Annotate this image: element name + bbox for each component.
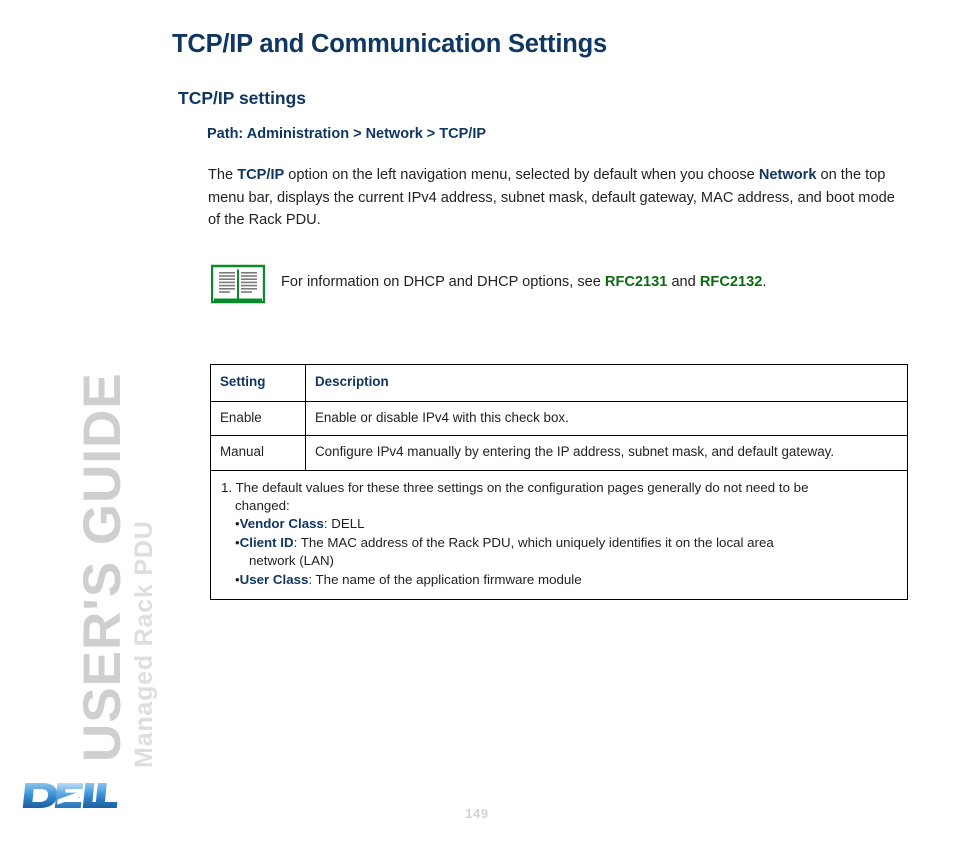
main-content: TCP/IP and Communication Settings TCP/IP… [0,0,954,854]
footnote-intro-cont: changed: [221,497,897,515]
note-part-2: and [667,274,699,290]
footnote-item-text: : DELL [324,516,365,531]
note-block: For information on DHCP and DHCP options… [211,262,911,304]
page-title: TCP/IP and Communication Settings [172,30,607,59]
document-page: USER'S GUIDE Managed Rack PDU [0,0,954,854]
footnote-item: •Client ID: The MAC address of the Rack … [221,534,897,552]
cell-description-manual: Configure IPv4 manually by entering the … [306,436,908,471]
paragraph-bold-tcpip: TCP/IP [237,167,284,183]
paragraph-bold-network: Network [759,167,817,183]
cell-setting-enable: Enable [211,401,306,436]
table-row: Enable Enable or disable IPv4 with this … [211,401,908,436]
table-footnote: 1. The default values for these three se… [211,470,908,599]
footnote-item-text: : The MAC address of the Rack PDU, which… [294,535,774,550]
footnote-intro: 1. The default values for these three se… [221,479,897,497]
footnote-number: 1. [221,480,232,495]
section-heading: TCP/IP settings [178,88,306,109]
note-part-1: For information on DHCP and DHCP options… [281,274,605,290]
footnote-intro-text: The default values for these three setti… [236,480,809,495]
note-part-3: . [762,274,766,290]
note-link-rfc2131[interactable]: RFC2131 [605,274,667,290]
table-footnote-row: 1. The default values for these three se… [211,470,908,599]
footnote-term-user-class: User Class [240,572,309,587]
breadcrumb-path: Path: Administration > Network > TCP/IP [207,126,486,142]
settings-table: Setting Description Enable Enable or dis… [210,364,908,600]
footnote-term-client-id: Client ID [240,535,294,550]
paragraph-part-1: The [208,167,237,183]
footnote-term-vendor-class: Vendor Class [240,516,324,531]
cell-description-enable: Enable or disable IPv4 with this check b… [306,401,908,436]
footnote-item: •Vendor Class: DELL [221,515,897,533]
column-header-setting: Setting [211,365,306,402]
open-book-icon [211,264,265,304]
cell-setting-manual: Manual [211,436,306,471]
column-header-description: Description [306,365,908,402]
footnote-item: •User Class: The name of the application… [221,571,897,589]
table-header-row: Setting Description [211,365,908,402]
note-link-rfc2132[interactable]: RFC2132 [700,274,762,290]
note-text: For information on DHCP and DHCP options… [281,272,766,292]
footnote-item-continuation: network (LAN) [221,552,897,570]
footnote-item-text: : The name of the application firmware m… [308,572,581,587]
paragraph-part-2: option on the left navigation menu, sele… [284,167,759,183]
intro-paragraph: The TCP/IP option on the left navigation… [208,164,908,232]
page-number: 149 [0,806,954,821]
table-row: Manual Configure IPv4 manually by enteri… [211,436,908,471]
